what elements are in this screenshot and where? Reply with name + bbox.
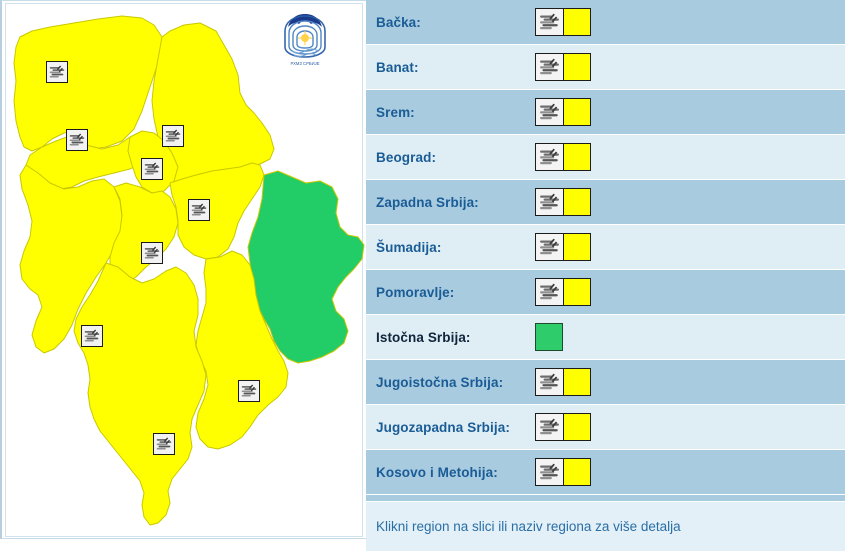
- fog-icon: [47, 62, 67, 82]
- fog-icon: [163, 126, 183, 146]
- region-link-6[interactable]: Pomoravlje:: [366, 285, 536, 300]
- region-row[interactable]: Istočna Srbija:: [366, 315, 845, 360]
- map-marker-fog-2[interactable]: [162, 125, 184, 147]
- warning-swatches: [535, 188, 591, 216]
- fog-icon-swatch: [535, 458, 563, 486]
- region-row[interactable]: Jugoistočna Srbija:: [366, 360, 845, 405]
- fog-icon-swatch: [535, 278, 563, 306]
- logo-caption: РХМЗ СРБИЈЕ: [290, 61, 319, 66]
- fog-icon: [536, 234, 563, 260]
- warning-swatches: [535, 98, 591, 126]
- warning-level-yellow: [563, 53, 591, 81]
- map-panel: РХМЗ СРБИЈЕ: [0, 0, 366, 539]
- region-row[interactable]: Bačka:: [366, 0, 845, 45]
- rhmz-serbia-logo: РХМЗ СРБИЈЕ: [274, 7, 336, 69]
- region-link-0[interactable]: Bačka:: [366, 15, 536, 30]
- region-row[interactable]: Šumadija:: [366, 225, 845, 270]
- warning-level-yellow: [563, 413, 591, 441]
- fog-icon: [189, 200, 209, 220]
- fog-icon: [536, 99, 563, 125]
- map-marker-fog-0[interactable]: [46, 61, 68, 83]
- warning-level-yellow: [563, 278, 591, 306]
- region-row[interactable]: Pomoravlje:: [366, 270, 845, 315]
- map-marker-fog-3[interactable]: [141, 158, 163, 180]
- warning-level-green: [535, 323, 563, 351]
- region-row[interactable]: Srem:: [366, 90, 845, 135]
- warning-swatches: [535, 368, 591, 396]
- region-link-2[interactable]: Srem:: [366, 105, 536, 120]
- warning-swatches: [535, 323, 563, 351]
- region-link-5[interactable]: Šumadija:: [366, 240, 536, 255]
- map-marker-fog-5[interactable]: [141, 242, 163, 264]
- fog-icon: [239, 381, 259, 401]
- region-row[interactable]: Jugozapadna Srbija:: [366, 405, 845, 450]
- map-marker-fog-6[interactable]: [81, 325, 103, 347]
- region-list-panel: Bačka:Banat:Srem:Beograd:Zapadna Srbija:…: [366, 0, 850, 539]
- fog-icon: [536, 369, 563, 395]
- fog-icon: [154, 434, 174, 454]
- map-marker-fog-8[interactable]: [153, 433, 175, 455]
- warning-swatches: [535, 8, 591, 36]
- fog-icon: [536, 9, 563, 35]
- map-hint-row: Klikni region na slici ili naziv regiona…: [366, 501, 845, 551]
- fog-icon-swatch: [535, 368, 563, 396]
- region-row[interactable]: Banat:: [366, 45, 845, 90]
- region-link-7: Istočna Srbija:: [366, 330, 536, 345]
- map-hint-text: Klikni region na slici ili naziv regiona…: [366, 519, 681, 534]
- warning-level-yellow: [563, 8, 591, 36]
- map-region-backa: [14, 16, 162, 151]
- region-row[interactable]: Kosovo i Metohija:: [366, 450, 845, 495]
- region-link-3[interactable]: Beograd:: [366, 150, 536, 165]
- fog-icon-swatch: [535, 143, 563, 171]
- region-row[interactable]: Zapadna Srbija:: [366, 180, 845, 225]
- map-region-jugozapadna-srbija: [74, 263, 206, 525]
- region-link-4[interactable]: Zapadna Srbija:: [366, 195, 536, 210]
- fog-icon: [536, 414, 563, 440]
- warning-level-yellow: [563, 98, 591, 126]
- meteoalarm-page: РХМЗ СРБИЈЕ Bačka:Banat:Srem:Beograd:Zap…: [0, 0, 850, 539]
- region-link-8[interactable]: Jugoistočna Srbija:: [366, 375, 536, 390]
- fog-icon-swatch: [535, 98, 563, 126]
- warning-swatches: [535, 413, 591, 441]
- warning-level-yellow: [563, 188, 591, 216]
- map-marker-fog-4[interactable]: [188, 199, 210, 221]
- warning-swatches: [535, 233, 591, 261]
- fog-icon: [142, 243, 162, 263]
- fog-icon-swatch: [535, 233, 563, 261]
- fog-icon: [536, 279, 563, 305]
- fog-icon: [67, 130, 87, 150]
- fog-icon: [536, 144, 563, 170]
- fog-icon: [82, 326, 102, 346]
- region-link-1[interactable]: Banat:: [366, 60, 536, 75]
- fog-icon-swatch: [535, 8, 563, 36]
- map-region-sumadija: [110, 183, 178, 283]
- warning-level-yellow: [563, 368, 591, 396]
- fog-icon-swatch: [535, 413, 563, 441]
- fog-icon-swatch: [535, 188, 563, 216]
- fog-icon-swatch: [535, 53, 563, 81]
- fog-icon: [536, 459, 563, 485]
- warning-swatches: [535, 278, 591, 306]
- warning-swatches: [535, 458, 591, 486]
- region-link-10[interactable]: Kosovo i Metohija:: [366, 465, 536, 480]
- warning-level-yellow: [563, 233, 591, 261]
- warning-swatches: [535, 143, 591, 171]
- region-row[interactable]: Beograd:: [366, 135, 845, 180]
- map-marker-fog-1[interactable]: [66, 129, 88, 151]
- fog-icon: [142, 159, 162, 179]
- warning-level-yellow: [563, 143, 591, 171]
- warning-level-yellow: [563, 458, 591, 486]
- map-marker-fog-7[interactable]: [238, 380, 260, 402]
- fog-icon: [536, 189, 563, 215]
- region-link-9[interactable]: Jugozapadna Srbija:: [366, 420, 536, 435]
- warning-swatches: [535, 53, 591, 81]
- fog-icon: [536, 54, 563, 80]
